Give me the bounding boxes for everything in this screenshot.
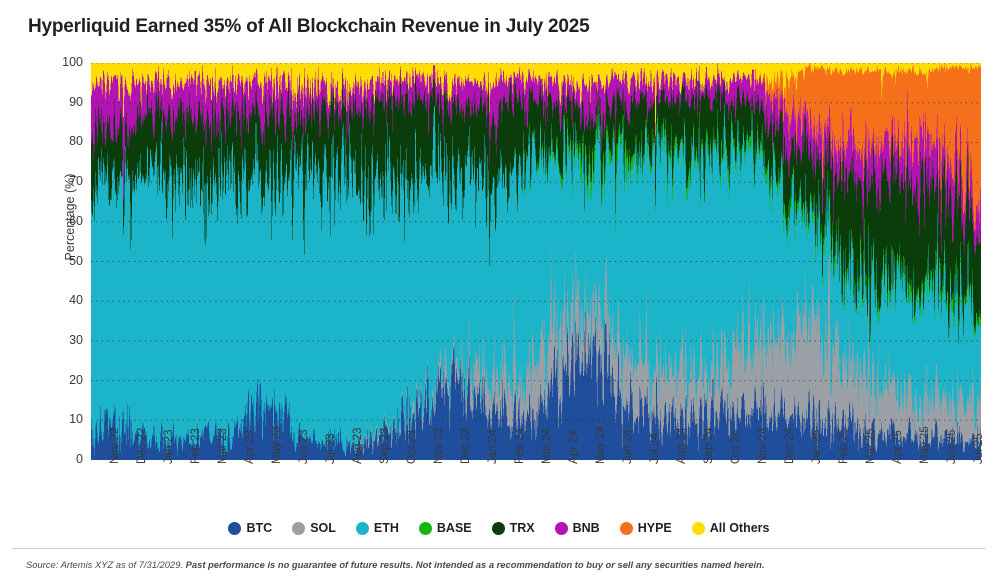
legend-item[interactable]: HYPE bbox=[620, 521, 672, 535]
legend-label: HYPE bbox=[638, 521, 672, 535]
y-axis-tick: 80 bbox=[35, 134, 83, 148]
legend-item[interactable]: TRX bbox=[492, 521, 535, 535]
x-axis-tick: Sep 24 bbox=[703, 428, 715, 464]
y-axis-tick: 20 bbox=[35, 373, 83, 387]
circle-marker-icon bbox=[228, 522, 241, 535]
x-axis-tick: Oct 24 bbox=[730, 430, 742, 464]
x-axis-tick: Apr 24 bbox=[568, 430, 580, 464]
legend-item[interactable]: All Others bbox=[692, 521, 770, 535]
y-axis-tick: 50 bbox=[35, 254, 83, 268]
legend-label: ETH bbox=[374, 521, 399, 535]
x-axis-tick: May 23 bbox=[271, 426, 283, 464]
legend-item[interactable]: BNB bbox=[555, 521, 600, 535]
page-title: Hyperliquid Earned 35% of All Blockchain… bbox=[28, 16, 590, 38]
x-axis-tick: Dec 24 bbox=[784, 428, 796, 464]
x-axis-tick: Apr 23 bbox=[244, 430, 256, 464]
circle-marker-icon bbox=[356, 522, 369, 535]
x-axis-tick: Mar 24 bbox=[541, 428, 553, 464]
x-axis-tick: Nov 24 bbox=[757, 428, 769, 464]
x-axis-tick: Apr 25 bbox=[892, 430, 904, 464]
chart-legend: BTCSOLETHBASETRXBNBHYPEAll Others bbox=[0, 521, 998, 535]
footnote-disclaimer: Past performance is no guarantee of futu… bbox=[186, 559, 765, 570]
stacked-area-chart bbox=[91, 63, 981, 460]
x-axis-tick: Dec 22 bbox=[136, 428, 148, 464]
legend-label: BTC bbox=[246, 521, 272, 535]
x-axis-tick: Jun 23 bbox=[298, 429, 310, 464]
x-axis-tick: May 24 bbox=[595, 426, 607, 464]
x-axis-tick: Aug 23 bbox=[352, 428, 364, 464]
x-axis-ticks: Nov 22Dec 22Jan 23Feb 23Mar 23Apr 23May … bbox=[91, 462, 981, 522]
x-axis-tick: Feb 25 bbox=[838, 428, 850, 464]
y-axis-tick: 60 bbox=[35, 214, 83, 228]
x-axis-tick: Oct 23 bbox=[406, 430, 418, 464]
circle-marker-icon bbox=[419, 522, 432, 535]
x-axis-tick: Mar 25 bbox=[865, 428, 877, 464]
x-axis-tick: Jun 24 bbox=[622, 429, 634, 464]
y-axis-tick: 100 bbox=[35, 55, 83, 69]
circle-marker-icon bbox=[292, 522, 305, 535]
x-axis-tick: Feb 23 bbox=[190, 428, 202, 464]
legend-label: BASE bbox=[437, 521, 472, 535]
y-axis-tick: 90 bbox=[35, 95, 83, 109]
footnote-source: Source: Artemis XYZ as of 7/31/2029. bbox=[26, 559, 186, 570]
legend-label: BNB bbox=[573, 521, 600, 535]
x-axis-tick: Jul 23 bbox=[325, 433, 337, 464]
footer-divider bbox=[12, 548, 986, 549]
x-axis-tick: Jun 25 bbox=[946, 429, 958, 464]
x-axis-tick: Mar 23 bbox=[217, 428, 229, 464]
footnote: Source: Artemis XYZ as of 7/31/2029. Pas… bbox=[26, 559, 764, 570]
circle-marker-icon bbox=[555, 522, 568, 535]
legend-item[interactable]: SOL bbox=[292, 521, 336, 535]
y-axis-tick: 70 bbox=[35, 174, 83, 188]
circle-marker-icon bbox=[620, 522, 633, 535]
legend-label: All Others bbox=[710, 521, 770, 535]
circle-marker-icon bbox=[692, 522, 705, 535]
legend-item[interactable]: BASE bbox=[419, 521, 472, 535]
x-axis-tick: Jul 24 bbox=[649, 433, 661, 464]
y-axis-tick: 30 bbox=[35, 333, 83, 347]
chart-page: Hyperliquid Earned 35% of All Blockchain… bbox=[0, 0, 998, 579]
legend-item[interactable]: ETH bbox=[356, 521, 399, 535]
y-axis-tick: 0 bbox=[35, 452, 83, 466]
x-axis-tick: Jan 24 bbox=[487, 429, 499, 464]
legend-label: TRX bbox=[510, 521, 535, 535]
x-axis-tick: Jan 23 bbox=[163, 429, 175, 464]
x-axis-tick: Jul 25 bbox=[973, 433, 985, 464]
x-axis-tick: Feb 24 bbox=[514, 428, 526, 464]
legend-item[interactable]: BTC bbox=[228, 521, 272, 535]
x-axis-tick: Nov 22 bbox=[109, 428, 121, 464]
circle-marker-icon bbox=[492, 522, 505, 535]
legend-label: SOL bbox=[310, 521, 336, 535]
plot-area bbox=[91, 63, 981, 460]
x-axis-tick: Aug 24 bbox=[676, 428, 688, 464]
x-axis-tick: Nov 23 bbox=[433, 428, 445, 464]
x-axis-tick: Sep 23 bbox=[379, 428, 391, 464]
x-axis-tick: Jan 25 bbox=[811, 429, 823, 464]
y-axis-tick: 10 bbox=[35, 412, 83, 426]
x-axis-tick: Dec 23 bbox=[460, 428, 472, 464]
y-axis-tick: 40 bbox=[35, 293, 83, 307]
x-axis-tick: May 25 bbox=[919, 426, 931, 464]
